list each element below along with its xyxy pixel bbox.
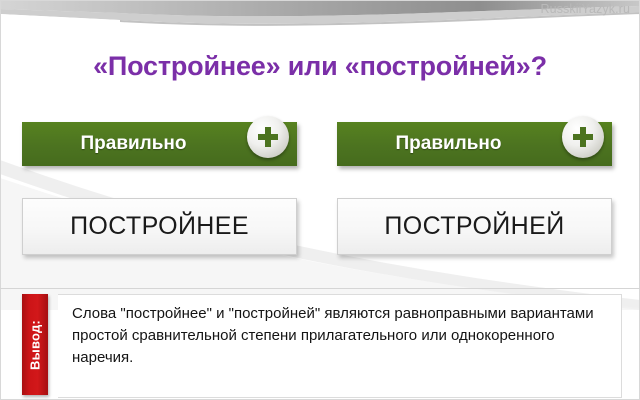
word-box-left: ПОСТРОЙНЕЕ	[22, 198, 297, 255]
conclusion-tab: Вывод:	[22, 294, 48, 395]
plus-icon	[562, 116, 604, 158]
conclusion-text: Слова "постройнее" и "постройней" являют…	[72, 303, 609, 369]
conclusion-body: Слова "постройнее" и "постройней" являют…	[58, 294, 622, 398]
word-label-left: ПОСТРОЙНЕЕ	[70, 212, 249, 241]
conclusion-tab-label: Вывод:	[28, 320, 43, 370]
word-box-right: ПОСТРОЙНЕЙ	[337, 198, 612, 255]
verdict-label-left: Правильно	[22, 122, 245, 166]
page-title: «Постройнее» или «постройней»?	[0, 51, 640, 82]
slide-root: RusskiiYazyk.ru «Постройнее» или «постро…	[0, 0, 640, 400]
conclusion-block: Вывод: Слова "постройнее" и "постройней"…	[22, 294, 622, 400]
verdict-label-right: Правильно	[337, 122, 560, 166]
section-divider	[0, 288, 640, 289]
watermark: RusskiiYazyk.ru	[541, 2, 630, 16]
verdict-bar-left: Правильно	[22, 122, 297, 166]
verdict-bar-right: Правильно	[337, 122, 612, 166]
word-label-right: ПОСТРОЙНЕЙ	[384, 212, 564, 241]
variant-column-right: Правильно ПОСТРОЙНЕЙ	[337, 122, 612, 255]
plus-icon	[247, 116, 289, 158]
variant-column-left: Правильно ПОСТРОЙНЕЕ	[22, 122, 297, 255]
